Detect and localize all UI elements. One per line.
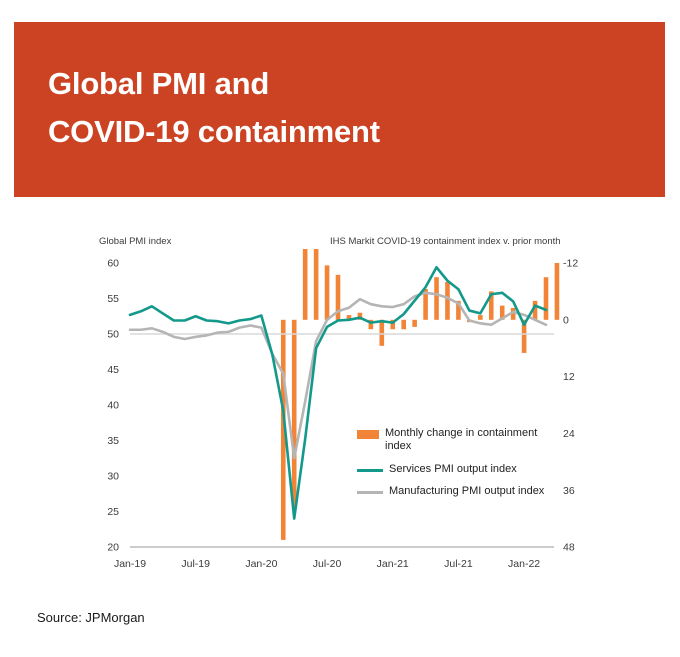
legend-label-services: Services PMI output index [389, 463, 517, 476]
source-note: Source: JPMorgan [37, 610, 145, 625]
svg-text:Jan-21: Jan-21 [377, 558, 409, 570]
legend-item-manufacturing: Manufacturing PMI output index [357, 485, 557, 498]
svg-text:48: 48 [563, 542, 575, 554]
svg-text:12: 12 [563, 371, 575, 383]
svg-text:Jul-19: Jul-19 [181, 558, 210, 570]
svg-text:24: 24 [563, 428, 575, 440]
header-banner: Global PMI and COVID-19 containment [14, 22, 665, 197]
svg-text:-12: -12 [563, 258, 578, 270]
svg-text:Jul-20: Jul-20 [313, 558, 342, 570]
chart-legend: Monthly change in containment index Serv… [357, 427, 557, 508]
legend-swatch-bar-icon [357, 430, 379, 439]
svg-text:Jul-21: Jul-21 [444, 558, 473, 570]
chart-svg: 202530354045505560 -12012243648 Jan-19Ju… [0, 249, 680, 579]
svg-text:Jan-20: Jan-20 [245, 558, 277, 570]
svg-text:45: 45 [107, 364, 119, 376]
svg-text:20: 20 [107, 542, 119, 554]
svg-text:60: 60 [107, 258, 119, 270]
page-title: Global PMI and COVID-19 containment [48, 60, 648, 156]
svg-text:0: 0 [563, 314, 569, 326]
y-axis-right-ticks: -12012243648 [563, 258, 578, 554]
legend-item-services: Services PMI output index [357, 463, 557, 476]
svg-text:55: 55 [107, 293, 119, 305]
svg-text:36: 36 [563, 485, 575, 497]
svg-text:Jan-22: Jan-22 [508, 558, 540, 570]
page-title-line-1: Global PMI and [48, 60, 648, 108]
left-axis-caption: Global PMI index [99, 236, 171, 247]
legend-swatch-line-teal-icon [357, 469, 383, 472]
svg-text:30: 30 [107, 471, 119, 483]
y-axis-left-ticks: 202530354045505560 [107, 258, 119, 554]
legend-item-containment: Monthly change in containment index [357, 427, 557, 454]
legend-label-manufacturing: Manufacturing PMI output index [389, 485, 544, 498]
page-title-line-2: COVID-19 containment [48, 108, 648, 156]
chart-figure: Global PMI index IHS Markit COVID-19 con… [0, 215, 680, 615]
plot-area: 202530354045505560 -12012243648 Jan-19Ju… [0, 249, 680, 579]
svg-text:40: 40 [107, 400, 119, 412]
right-axis-caption: IHS Markit COVID-19 containment index v.… [330, 236, 561, 247]
svg-text:25: 25 [107, 506, 119, 518]
legend-swatch-line-gray-icon [357, 491, 383, 494]
x-axis-ticks: Jan-19Jul-19Jan-20Jul-20Jan-21Jul-21Jan-… [114, 558, 540, 570]
svg-text:50: 50 [107, 329, 119, 341]
svg-text:35: 35 [107, 435, 119, 447]
legend-label-containment: Monthly change in containment index [385, 427, 545, 454]
svg-text:Jan-19: Jan-19 [114, 558, 146, 570]
